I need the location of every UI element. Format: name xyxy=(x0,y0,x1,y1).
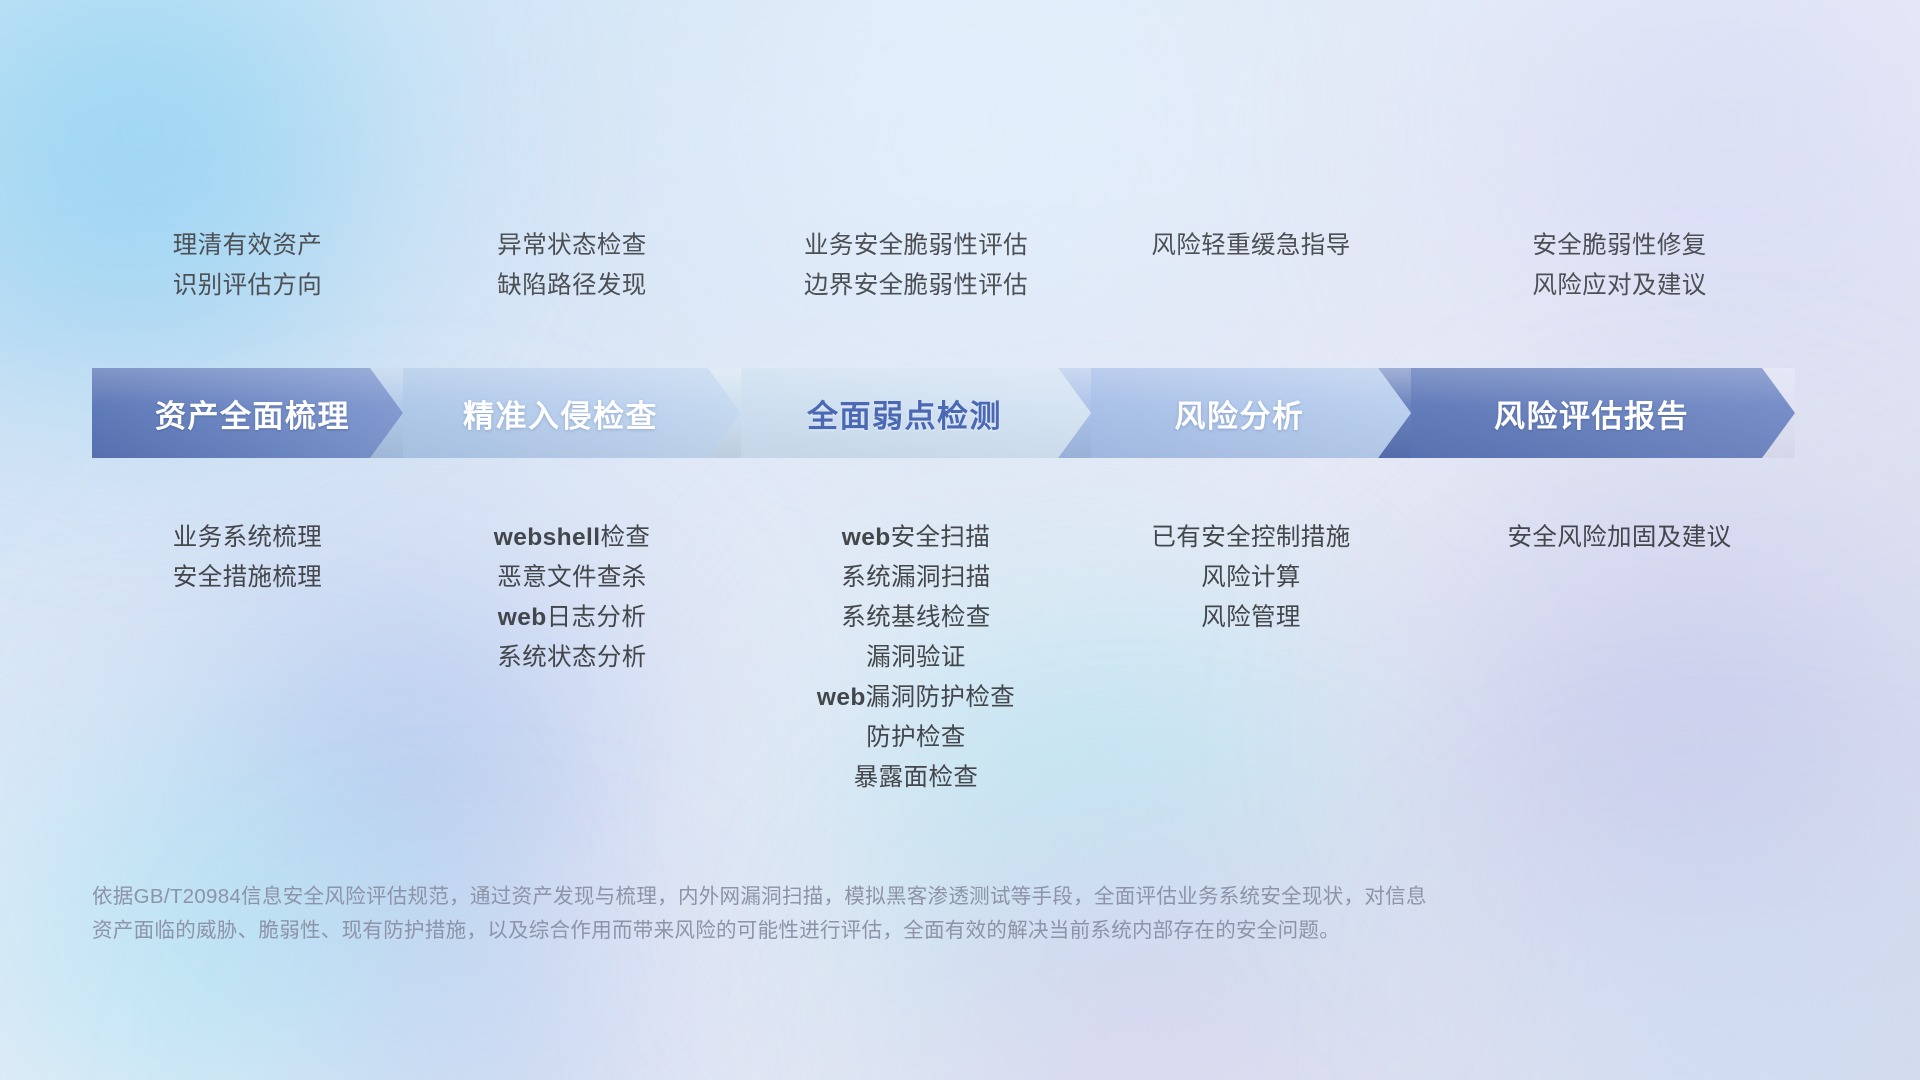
activity-text: 安全措施梳理 xyxy=(173,564,322,591)
chevron-step-intrusion-check[interactable]: 精准入侵检查 xyxy=(370,368,741,458)
chevron-step-risk-analysis[interactable]: 风险分析 xyxy=(1058,368,1411,458)
chevron-band: 资产全面梳理 精准入侵检查 全面弱点检测 风险分析 风险评估报告 xyxy=(92,368,1828,458)
footer-line-1: 依据GB/T20984信息安全风险评估规范，通过资产发现与梳理，内外网漏洞扫描，… xyxy=(92,880,1652,914)
chevron-label: 全面弱点检测 xyxy=(797,391,1002,436)
activity-item: 系统漏洞扫描 xyxy=(741,558,1091,598)
activity-text: 风险计算 xyxy=(1201,564,1301,591)
activity-text: 系统状态分析 xyxy=(497,644,646,671)
activity-item: web漏洞防护检查 xyxy=(741,678,1091,718)
outcomes-col-intrusion-check: 异常状态检查 缺陷路径发现 xyxy=(403,226,741,306)
activity-item: 安全风险加固及建议 xyxy=(1411,518,1828,558)
outcomes-col-risk-analysis: 风险轻重缓急指导 xyxy=(1091,226,1411,306)
activity-item: 风险计算 xyxy=(1091,558,1411,598)
chevron-label: 精准入侵检查 xyxy=(453,391,658,436)
chevron-label: 资产全面梳理 xyxy=(145,391,350,436)
footer-note: 依据GB/T20984信息安全风险评估规范，通过资产发现与梳理，内外网漏洞扫描，… xyxy=(92,880,1652,948)
outcome-text: 业务安全脆弱性评估 xyxy=(741,226,1091,266)
activity-text: 暴露面检查 xyxy=(854,764,979,791)
activity-item: webshell检查 xyxy=(403,518,741,558)
footer-line-2: 资产面临的威胁、脆弱性、现有防护措施，以及综合作用而带来风险的可能性进行评估，全… xyxy=(92,914,1652,948)
outcome-text: 异常状态检查 xyxy=(403,226,741,266)
chevron-step-asset-inventory[interactable]: 资产全面梳理 xyxy=(92,368,403,458)
slide-canvas: 理清有效资产 识别评估方向 异常状态检查 缺陷路径发现 业务安全脆弱性评估 边界… xyxy=(0,0,1920,1080)
activity-item: 系统状态分析 xyxy=(403,638,741,678)
activity-lead: web xyxy=(498,604,547,631)
activity-text: 漏洞防护检查 xyxy=(866,684,1015,711)
activity-item: 系统基线检查 xyxy=(741,598,1091,638)
activity-text: 安全扫描 xyxy=(891,524,991,551)
activity-text: 业务系统梳理 xyxy=(173,524,322,551)
chevron-step-risk-report[interactable]: 风险评估报告 xyxy=(1378,368,1795,458)
activity-lead: web xyxy=(817,684,866,711)
activities-row: 业务系统梳理 安全措施梳理 webshell检查 恶意文件查杀 web日志分析 … xyxy=(92,518,1828,798)
activities-col-weakness-detection: web安全扫描 系统漏洞扫描 系统基线检查 漏洞验证 web漏洞防护检查 防护检… xyxy=(741,518,1091,798)
activity-lead: webshell xyxy=(494,524,601,551)
activity-item: 漏洞验证 xyxy=(741,638,1091,678)
outcome-text: 风险轻重缓急指导 xyxy=(1091,226,1411,266)
activity-text: 系统漏洞扫描 xyxy=(841,564,990,591)
outcome-text: 安全脆弱性修复 xyxy=(1411,226,1828,266)
activities-col-risk-analysis: 已有安全控制措施 风险计算 风险管理 xyxy=(1091,518,1411,638)
activity-text: 系统基线检查 xyxy=(841,604,990,631)
activity-item: 防护检查 xyxy=(741,718,1091,758)
activity-text: 日志分析 xyxy=(547,604,647,631)
outcome-text: 风险应对及建议 xyxy=(1411,266,1828,306)
activity-item: web日志分析 xyxy=(403,598,741,638)
activity-text: 恶意文件查杀 xyxy=(497,564,646,591)
outcomes-col-risk-report: 安全脆弱性修复 风险应对及建议 xyxy=(1411,226,1828,306)
outcomes-row: 理清有效资产 识别评估方向 异常状态检查 缺陷路径发现 业务安全脆弱性评估 边界… xyxy=(92,226,1828,306)
activity-text: 风险管理 xyxy=(1201,604,1301,631)
activities-col-risk-report: 安全风险加固及建议 xyxy=(1411,518,1828,558)
outcome-text: 缺陷路径发现 xyxy=(403,266,741,306)
activity-item: 风险管理 xyxy=(1091,598,1411,638)
activity-item: 已有安全控制措施 xyxy=(1091,518,1411,558)
activity-text: 安全风险加固及建议 xyxy=(1507,524,1731,551)
activity-text: 防护检查 xyxy=(866,724,966,751)
activities-col-asset-inventory: 业务系统梳理 安全措施梳理 xyxy=(92,518,403,598)
outcomes-col-weakness-detection: 业务安全脆弱性评估 边界安全脆弱性评估 xyxy=(741,226,1091,306)
chevron-label: 风险分析 xyxy=(1165,391,1305,436)
activity-text: 漏洞验证 xyxy=(866,644,966,671)
chevron-label: 风险评估报告 xyxy=(1484,391,1689,436)
outcomes-col-asset-inventory: 理清有效资产 识别评估方向 xyxy=(92,226,403,306)
activity-item: web安全扫描 xyxy=(741,518,1091,558)
outcome-text: 理清有效资产 xyxy=(92,226,403,266)
activity-item: 恶意文件查杀 xyxy=(403,558,741,598)
activity-text: 已有安全控制措施 xyxy=(1151,524,1350,551)
outcome-text: 识别评估方向 xyxy=(92,266,403,306)
activity-item: 暴露面检查 xyxy=(741,758,1091,798)
activities-col-intrusion-check: webshell检查 恶意文件查杀 web日志分析 系统状态分析 xyxy=(403,518,741,678)
activity-lead: web xyxy=(842,524,891,551)
activity-text: 检查 xyxy=(600,524,650,551)
chevron-step-weakness-detection[interactable]: 全面弱点检测 xyxy=(708,368,1091,458)
activity-item: 安全措施梳理 xyxy=(92,558,403,598)
activity-item: 业务系统梳理 xyxy=(92,518,403,558)
outcome-text: 边界安全脆弱性评估 xyxy=(741,266,1091,306)
